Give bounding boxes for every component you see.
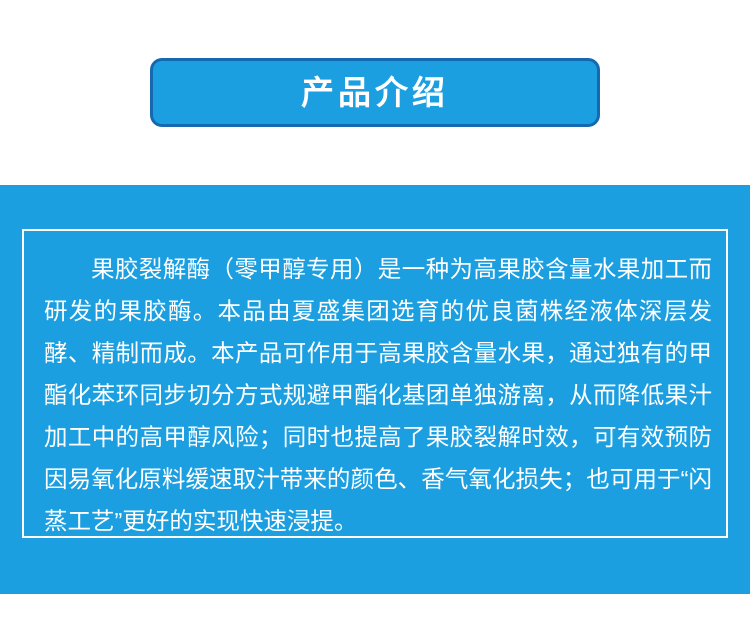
content-card: 果胶裂解酶（零甲醇专用）是一种为高果胶含量水果加工而研发的果胶酶。本品由夏盛集团… <box>22 229 728 538</box>
product-intro-page: 产品介绍 果胶裂解酶（零甲醇专用）是一种为高果胶含量水果加工而研发的果胶酶。本品… <box>0 0 750 638</box>
section-title-banner: 产品介绍 <box>150 58 600 127</box>
product-description-paragraph: 果胶裂解酶（零甲醇专用）是一种为高果胶含量水果加工而研发的果胶酶。本品由夏盛集团… <box>44 248 712 542</box>
page-title: 产品介绍 <box>301 76 449 109</box>
content-block: 果胶裂解酶（零甲醇专用）是一种为高果胶含量水果加工而研发的果胶酶。本品由夏盛集团… <box>0 185 750 594</box>
